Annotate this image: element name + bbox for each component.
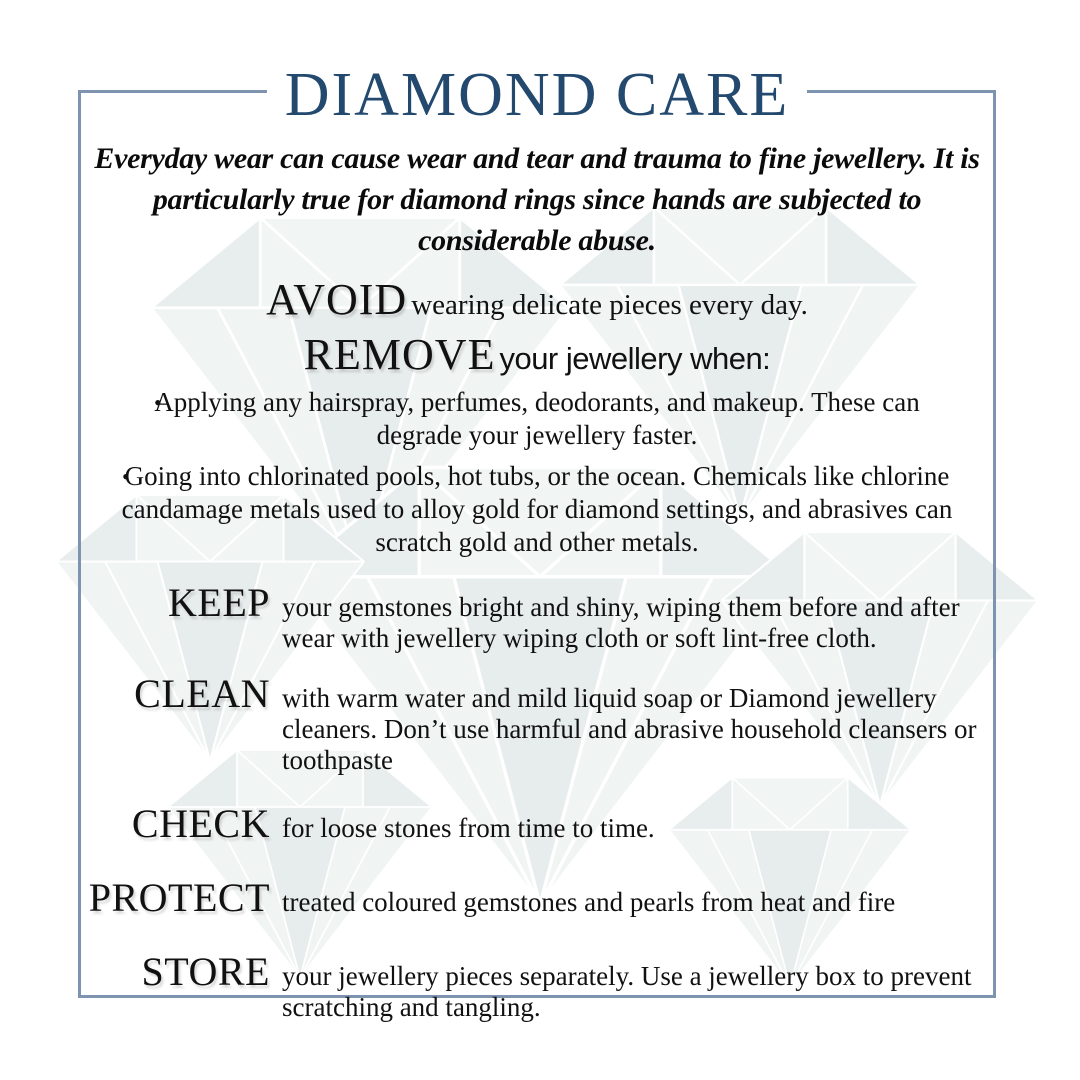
list-item: • Going into chlorinated pools, hot tubs…: [78, 460, 996, 559]
tip-keyword-store: STORE: [78, 950, 282, 994]
bullet-dot-icon: •: [122, 460, 130, 493]
tip-text-clean: with warm water and mild liquid soap or …: [282, 683, 996, 776]
highlight-keyword-avoid: AVOID: [266, 275, 407, 324]
highlight-keyword-remove: REMOVE: [304, 330, 496, 379]
tip-keyword-check: CHECK: [78, 802, 282, 846]
tip-text-protect: treated coloured gemstones and pearls fr…: [282, 887, 996, 918]
poster-body: Everyday wear can cause wear and tear an…: [78, 138, 996, 1023]
highlight-text-avoid: wearing delicate pieces every day.: [411, 289, 808, 321]
tip-keyword-protect: PROTECT: [78, 876, 282, 920]
page-title: DIAMOND CARE: [267, 60, 808, 130]
tip-row-store: STORE your jewellery pieces separately. …: [78, 950, 996, 1023]
tip-text-keep: your gemstones bright and shiny, wiping …: [282, 592, 996, 654]
list-item: • Applying any hairspray, perfumes, deod…: [78, 386, 996, 452]
tip-keyword-clean: CLEAN: [78, 672, 282, 716]
list-item-text: Going into chlorinated pools, hot tubs, …: [122, 461, 953, 557]
highlight-row-avoid: AVOID wearing delicate pieces every day.: [78, 275, 996, 324]
tip-row-protect: PROTECT treated coloured gemstones and p…: [78, 876, 996, 920]
bullet-dot-icon: •: [154, 386, 162, 419]
tip-row-keep: KEEP your gemstones bright and shiny, wi…: [78, 581, 996, 654]
page-title-wrapper: DIAMOND CARE: [78, 60, 996, 132]
remove-bullet-list: • Applying any hairspray, perfumes, deod…: [78, 386, 996, 559]
poster-content: DIAMOND CARE Everyday wear can cause wea…: [78, 60, 996, 1000]
highlight-text-remove: your jewellery when:: [499, 341, 770, 376]
intro-paragraph: Everyday wear can cause wear and tear an…: [78, 138, 996, 261]
highlight-row-remove: REMOVE your jewellery when:: [78, 330, 996, 379]
tip-text-store: your jewellery pieces separately. Use a …: [282, 961, 996, 1023]
list-item-text: Applying any hairspray, perfumes, deodor…: [154, 387, 920, 450]
tip-row-clean: CLEAN with warm water and mild liquid so…: [78, 672, 996, 776]
tip-text-check: for loose stones from time to time.: [282, 813, 996, 844]
tip-row-check: CHECK for loose stones from time to time…: [78, 802, 996, 846]
tip-keyword-keep: KEEP: [78, 581, 282, 625]
